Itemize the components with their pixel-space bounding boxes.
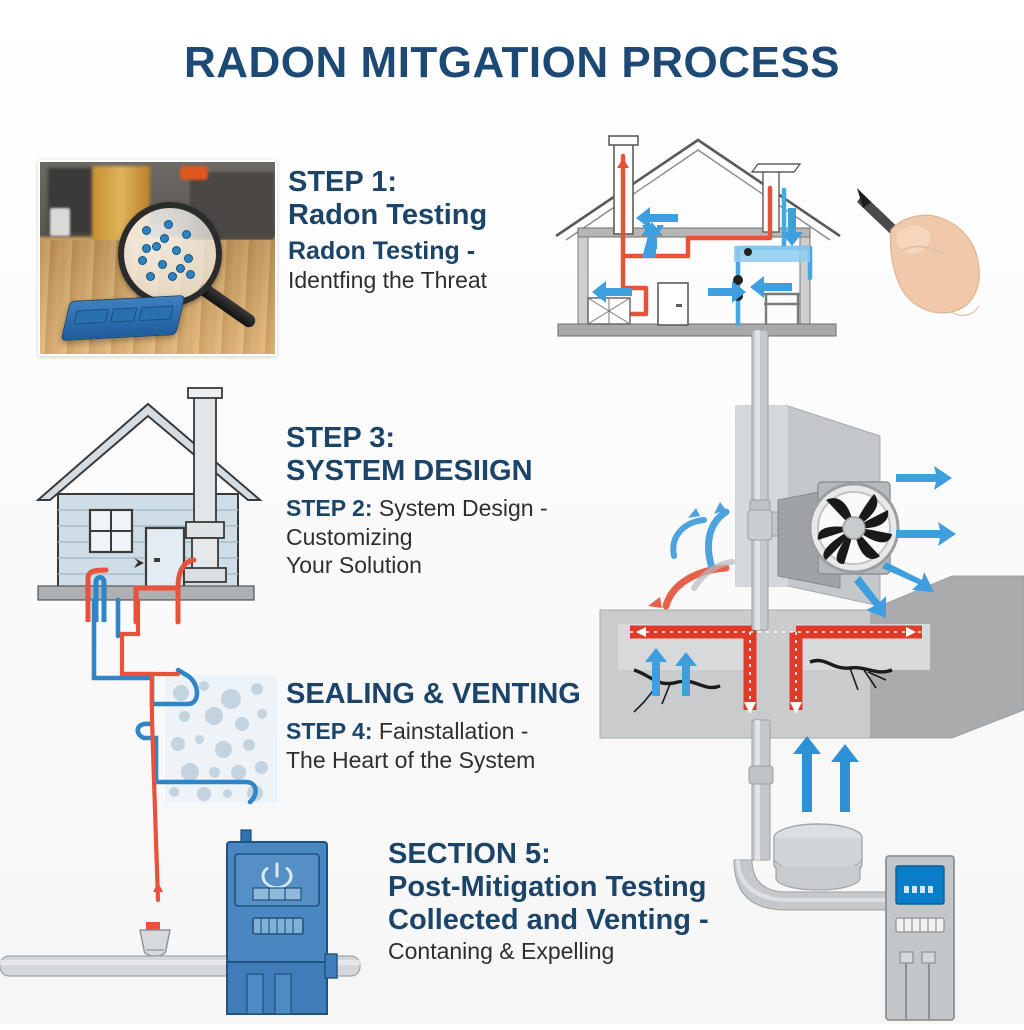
step-1-subheading: Radon Testing - [288,236,487,266]
step-4-sub-text: Fainstallation - [379,718,529,744]
step-4-sub-label: STEP 4: [286,718,373,744]
step-1-heading-line2: Radon Testing [288,199,487,232]
radon-detector-device [61,295,186,341]
hand-holding-pen-illustration [845,172,1015,332]
photo-bg-canister [50,208,70,236]
magnifier-icon [118,202,222,306]
step-1-text-block: STEP 1: Radon Testing Radon Testing - Id… [288,166,487,295]
step-3-sub-text: System Design - [379,495,548,521]
step-3-heading-line1: STEP 3: [286,422,548,455]
radon-fan-control-unit[interactable] [225,828,337,1018]
photo-bg-orange-object [180,166,208,180]
step-3-sub-label: STEP 2: [286,495,373,521]
vent-pipe-canister-and-monitor [600,740,1024,1030]
step-1-caption: Identfing the Threat [288,266,487,295]
step-3-caption-line1: Customizing [286,523,548,552]
step-4-text-block: SEALING & VENTING STEP 4: Fainstallation… [286,678,581,774]
step-3-text-block: STEP 3: SYSTEM DESIIGN STEP 2: System De… [286,422,548,580]
radon-testing-photo [38,160,277,356]
step-3-heading-line2: SYSTEM DESIIGN [286,455,548,488]
step-1-heading-line1: STEP 1: [288,166,487,199]
house-cross-section-airflow-diagram [548,128,868,358]
step-4-caption: The Heart of the System [286,746,581,775]
house-with-radon-vent-stack [28,382,288,622]
step-3-caption-line2: Your Solution [286,551,548,580]
page-title: RADON MITGATION PROCESS [0,38,1024,88]
step-4-heading: SEALING & VENTING [286,678,581,711]
